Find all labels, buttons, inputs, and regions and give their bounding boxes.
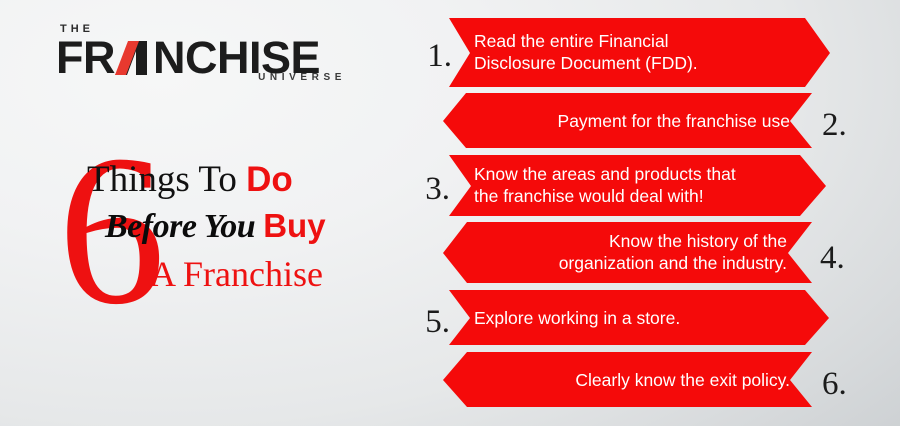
step-item-5: 5. Explore working in a store. [0,290,900,346]
step-item-1: 1. Read the entire Financial Disclosure … [0,18,900,88]
step-number-4: 4. [820,242,870,275]
step-text-6: Clearly know the exit policy. [470,369,790,391]
steps-list: 1. Read the entire Financial Disclosure … [0,0,900,426]
step-text-2: Payment for the franchise use [470,110,790,132]
step-number-3: 3. [410,173,450,206]
step-item-6: 6. Clearly know the exit policy. [0,352,900,408]
step-text-1: Read the entire Financial Disclosure Doc… [474,30,804,74]
step-item-3: 3. Know the areas and products that the … [0,155,900,217]
step-number-2: 2. [822,109,872,142]
step-number-6: 6. [822,368,872,401]
step-text-4: Know the history of the organization and… [460,230,787,274]
step-text-5: Explore working in a store. [474,307,794,329]
step-item-2: 2. Payment for the franchise use [0,93,900,149]
step-text-3: Know the areas and products that the fra… [474,163,804,207]
step-number-5: 5. [410,306,450,339]
step-number-1: 1. [412,40,452,73]
step-item-4: 4. Know the history of the organization … [0,222,900,284]
infographic-canvas: THE FRNCHISE UNIVERSE 6 Things To Do Bef… [0,0,900,426]
